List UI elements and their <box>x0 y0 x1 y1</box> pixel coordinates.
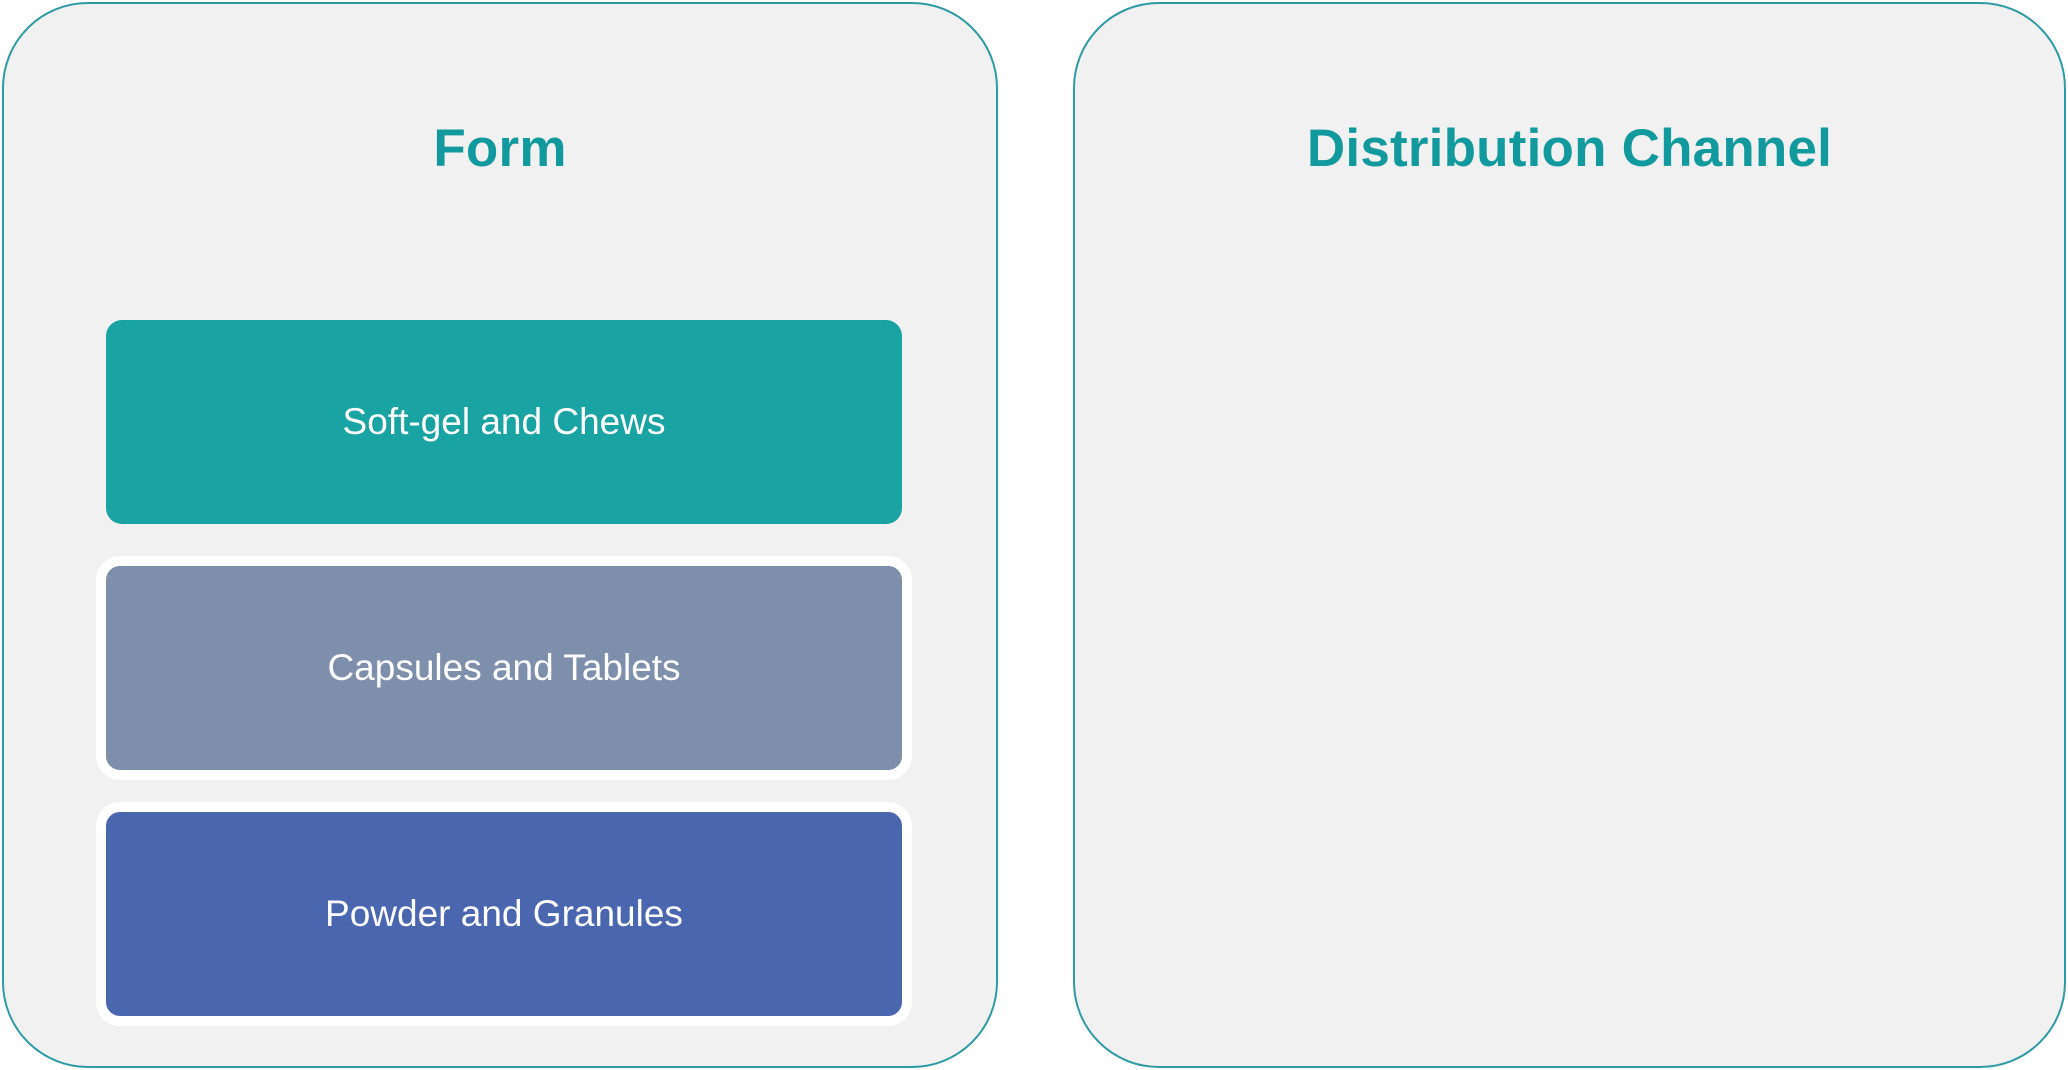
panel-form: Form Soft-gel and Chews Capsules and Tab… <box>2 2 998 1068</box>
panel-form-title: Form <box>4 122 996 175</box>
panel-distribution-channel-title: Distribution Channel <box>1075 122 2064 175</box>
form-item-label: Soft-gel and Chews <box>120 400 888 444</box>
form-item-powder-and-granules[interactable]: Powder and Granules <box>96 802 912 1026</box>
form-item-label: Capsules and Tablets <box>120 646 888 690</box>
form-item-capsules-and-tablets[interactable]: Capsules and Tablets <box>96 556 912 780</box>
form-item-label: Powder and Granules <box>120 892 888 936</box>
panel-distribution-channel: Distribution Channel Health and Beauty S… <box>1073 2 2066 1068</box>
segmentation-diagram: Form Soft-gel and Chews Capsules and Tab… <box>0 0 2068 1070</box>
form-item-soft-gel-and-chews[interactable]: Soft-gel and Chews <box>106 320 902 524</box>
